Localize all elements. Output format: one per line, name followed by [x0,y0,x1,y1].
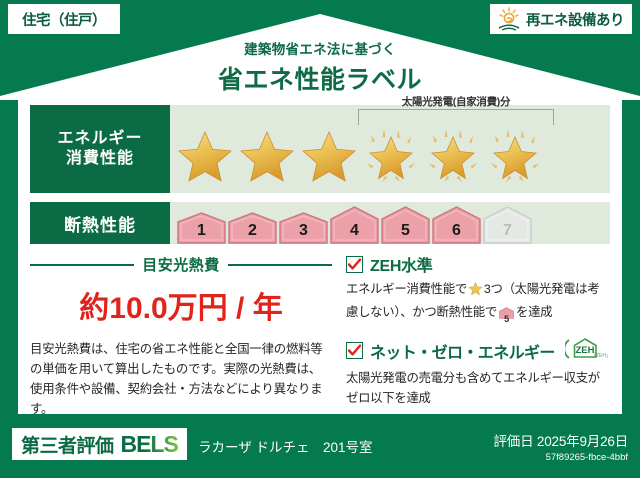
title-subtitle: 建築物省エネ法に基づく [0,38,640,58]
utility-cost-section: 目安光熱費 約10.0万円 / 年 目安光熱費は、住宅の省エネ性能と全国一律の燃… [30,252,332,402]
bels-jp-text: 第三者評価 [21,431,114,458]
utility-cost-heading-text: 目安光熱費 [142,254,220,275]
insulation-step-number: 2 [227,222,278,240]
star-icon-solar [422,125,484,187]
energy-stars-area: 太陽光発電(自家消費)分 [170,105,610,193]
lower-content: 目安光熱費 約10.0万円 / 年 目安光熱費は、住宅の省エネ性能と全国一律の燃… [30,252,610,402]
zeh-body-part1: エネルギー消費性能で [346,282,467,296]
insulation-step-number: 1 [176,222,227,240]
zeh-standard-header: ZEH水準 [346,252,610,276]
utility-cost-value: 約10.0万円 / 年 [30,283,332,327]
certificate-id: 57f89265-fbce-4bbf [493,452,628,463]
star-icon [298,125,360,187]
property-name: ラカーザ ドルチェ 201号室 [198,436,373,456]
net-zero-title: ネット・ゼロ・エネルギー [370,339,555,363]
building-type-badge: 住宅（住戸） [8,4,120,34]
star-icon [236,125,298,187]
evaluation-date: 評価日 2025年9月26日 [493,430,628,450]
zeh-standard-body: エネルギー消費性能で3つ（太陽光発電は考慮しない）、かつ断熱性能で5を達成 [346,280,610,326]
insulation-step-number: 7 [482,222,533,240]
zeh-logo-icon: ZEH 「ZEH」 [565,336,609,365]
house-step-icon: 6 [431,206,482,244]
svg-text:「ZEH」: 「ZEH」 [591,353,609,359]
sun-renewable-icon [496,7,522,31]
insulation-label-text: 断熱性能 [64,211,136,236]
star-icon-solar [484,125,546,187]
bels-logo: 第三者評価 BELS [12,428,187,460]
check-icon [346,342,363,359]
renewable-badge-label: 再エネ設備あり [526,9,624,30]
star-icon-solar [360,125,422,187]
insulation-step-number: 3 [278,222,329,240]
insulation-performance-row: 断熱性能 1 2 3 [30,202,610,244]
zeh-standard-item: ZEH水準 エネルギー消費性能で3つ（太陽光発電は考慮しない）、かつ断熱性能で5… [346,252,610,326]
house-step-icon: 3 [278,212,329,244]
house-step-icon-inline: 5 [499,306,514,327]
house-step-icon: 2 [227,212,278,244]
star-icon-inline [468,285,483,299]
insulation-step-number: 6 [431,222,482,240]
net-zero-body: 太陽光発電の売電分も含めてエネルギー収支がゼロ以下を達成 [346,369,610,408]
label-title: 建築物省エネ法に基づく 省エネ性能ラベル [0,38,640,96]
solar-bracket-caption: 太陽光発電(自家消費)分 [358,94,554,109]
zeh-section: ZEH水準 エネルギー消費性能で3つ（太陽光発電は考慮しない）、かつ断熱性能で5… [332,252,610,402]
star-icon [174,125,236,187]
insulation-performance-label: 断熱性能 [30,202,170,244]
energy-performance-row: エネルギー 消費性能 太陽光発電(自家消費)分 [30,105,610,193]
insulation-step-number: 5 [380,222,431,240]
insulation-step-list: 1 2 3 4 [176,202,533,244]
zeh-body-star-text: 3つ（太陽光発電 [484,282,575,296]
title-main: 省エネ性能ラベル [0,60,640,96]
check-icon [346,256,363,273]
energy-performance-label: エネルギー 消費性能 [30,105,170,193]
zeh-standard-title: ZEH水準 [370,252,433,276]
energy-label-line2: 消費性能 [66,149,134,169]
star-rating [174,125,546,187]
net-zero-header: ネット・ゼロ・エネルギー ZEH 「ZEH」 [346,336,610,365]
divider-right [228,264,332,266]
house-step-icon: 4 [329,206,380,244]
zeh-body-part3: を達成 [516,305,552,319]
insulation-steps-area: 1 2 3 4 [170,202,610,244]
inline-house-number: 5 [499,312,514,326]
building-type-label: 住宅（住戸） [22,9,106,30]
divider-left [30,264,134,266]
evaluation-info: 評価日 2025年9月26日 57f89265-fbce-4bbf [493,430,628,463]
house-step-icon: 1 [176,212,227,244]
solar-bracket [358,109,554,125]
house-step-icon: 5 [380,206,431,244]
label-body-card: エネルギー 消費性能 太陽光発電(自家消費)分 [18,92,622,414]
house-step-icon-inactive: 7 [482,206,533,244]
utility-cost-heading: 目安光熱費 [30,254,332,275]
energy-label-card: 住宅（住戸） 再エネ設備あり 建築物省エネ法に基づく 省エネ性能ラベル [0,0,640,478]
net-zero-energy-item: ネット・ゼロ・エネルギー ZEH 「ZEH」 太陽光発電の売電分も含めてエネルギ… [346,336,610,408]
label-footer: 第三者評価 BELS ラカーザ ドルチェ 201号室 評価日 2025年9月26… [0,414,640,478]
insulation-step-number: 4 [329,222,380,240]
bels-en-text: BELS [121,431,178,458]
renewable-equipment-badge: 再エネ設備あり [490,4,632,34]
utility-cost-note: 目安光熱費は、住宅の省エネ性能と全国一律の燃料等の単価を用いて算出したものです。… [30,339,332,419]
energy-label-line1: エネルギー [57,129,142,149]
